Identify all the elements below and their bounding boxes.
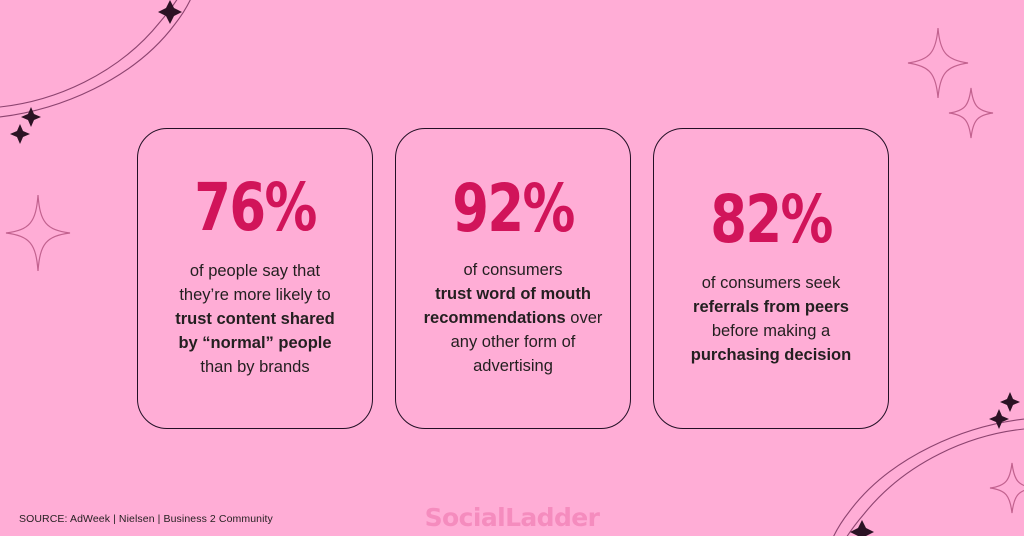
sociallader-logo: SocialLadder bbox=[0, 503, 1024, 532]
stat-line-bold: purchasing decision bbox=[691, 346, 851, 364]
stat-line-bold: recommendations bbox=[424, 309, 566, 327]
stat-percentage-76: 76% bbox=[194, 175, 316, 241]
stat-line: advertising bbox=[473, 357, 553, 375]
stat-line: any other form of bbox=[451, 333, 576, 351]
stat-line: of consumers seek bbox=[702, 274, 840, 292]
stat-line: before making a bbox=[712, 322, 830, 340]
stat-line: than by brands bbox=[200, 358, 309, 376]
stat-line: they’re more likely to bbox=[179, 286, 330, 304]
stat-percentage-82: 82% bbox=[710, 187, 832, 253]
left-sparkle-decor bbox=[6, 195, 70, 271]
stat-line: of consumers bbox=[463, 261, 562, 279]
stat-cards-row: 76% of people say that they’re more like… bbox=[137, 128, 889, 429]
stat-line-suffix: over bbox=[566, 309, 603, 327]
stat-description-76: of people say that they’re more likely t… bbox=[175, 259, 335, 379]
stat-card-92: 92% of consumers trust word of mouth rec… bbox=[395, 128, 631, 429]
top-right-sparkles-decor bbox=[908, 28, 993, 138]
stat-percentage-92: 92% bbox=[452, 176, 574, 242]
top-left-curves-decor bbox=[0, 0, 196, 118]
stat-line: of people say that bbox=[190, 262, 320, 280]
stat-description-82: of consumers seek referrals from peers b… bbox=[691, 271, 851, 367]
stat-card-76: 76% of people say that they’re more like… bbox=[137, 128, 373, 429]
stat-card-82: 82% of consumers seek referrals from pee… bbox=[653, 128, 889, 429]
stat-line-bold: trust word of mouth bbox=[435, 285, 591, 303]
top-left-star-decor bbox=[10, 0, 182, 144]
stat-line-bold: by “normal” people bbox=[178, 334, 331, 352]
infographic-canvas: 76% of people say that they’re more like… bbox=[0, 0, 1024, 536]
stat-line-bold: trust content shared bbox=[175, 310, 335, 328]
stat-line-bold: referrals from peers bbox=[693, 298, 849, 316]
stat-description-92: of consumers trust word of mouth recomme… bbox=[424, 258, 603, 378]
